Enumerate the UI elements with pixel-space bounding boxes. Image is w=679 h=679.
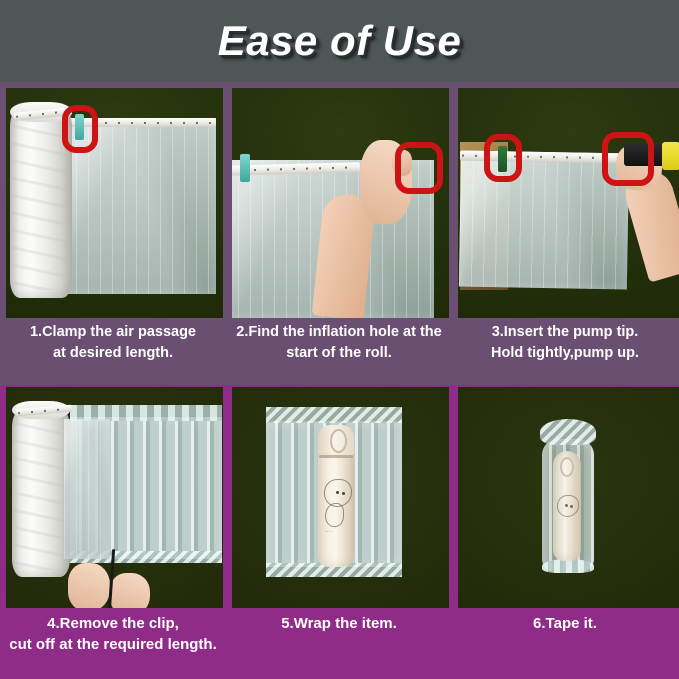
air-passage-clip bbox=[240, 154, 250, 182]
page-title: Ease of Use bbox=[0, 17, 679, 65]
step-1-illustration bbox=[6, 88, 223, 318]
step-1-caption: 1.Clamp the air passage at desired lengt… bbox=[0, 322, 226, 364]
step-6-photo bbox=[458, 387, 679, 608]
film-roll bbox=[12, 409, 70, 577]
air-column-crimp-top bbox=[266, 407, 402, 423]
highlight-box-inflation-hole bbox=[395, 142, 443, 194]
infographic-page: Ease of Use bbox=[0, 0, 679, 679]
steps-row-1: 1.Clamp the air passage at desired lengt… bbox=[0, 82, 679, 385]
highlight-box-pump-tip bbox=[602, 132, 654, 186]
step-1-photo bbox=[6, 88, 223, 318]
step-2-photo bbox=[232, 88, 449, 318]
bottle-label-text: ‧‧‧‧ bbox=[325, 529, 333, 535]
highlight-box-clip bbox=[484, 134, 522, 182]
wrap-crimp-top bbox=[540, 419, 596, 445]
wrap-crimp-bottom bbox=[542, 559, 594, 573]
step-4-caption: 4.Remove the clip, cut off at the requir… bbox=[0, 613, 226, 655]
row-1-captions: 1.Clamp the air passage at desired lengt… bbox=[0, 322, 679, 364]
steps-row-2: ‧‧‧‧ 4.Remove the clip, c bbox=[0, 385, 679, 679]
step-3-caption: 3.Insert the pump tip. Hold tightly,pump… bbox=[452, 322, 678, 364]
row-2-panels: ‧‧‧‧ bbox=[0, 387, 679, 608]
hand-right-fingers bbox=[110, 573, 150, 608]
row-2-captions: 4.Remove the clip, cut off at the requir… bbox=[0, 613, 679, 655]
bottle-ring bbox=[319, 455, 353, 458]
step-6-caption: 6.Tape it. bbox=[452, 613, 678, 655]
step-2-illustration bbox=[232, 88, 449, 318]
step-3-photo bbox=[458, 88, 679, 318]
step-3-illustration bbox=[458, 88, 679, 318]
bottle-eye-left bbox=[565, 504, 568, 507]
step-4-photo bbox=[6, 387, 223, 608]
pump-tip bbox=[662, 142, 679, 170]
bottle-loop bbox=[330, 429, 347, 453]
step-5-caption: 5.Wrap the item. bbox=[226, 613, 452, 655]
step-5-illustration: ‧‧‧‧ bbox=[232, 387, 449, 608]
highlight-box-clip bbox=[62, 105, 98, 153]
step-5-photo: ‧‧‧‧ bbox=[232, 387, 449, 608]
bottle-eye-right bbox=[570, 505, 573, 508]
uninflated-section bbox=[64, 419, 110, 559]
step-2-caption: 2.Find the inflation hole at the start o… bbox=[226, 322, 452, 364]
step-6-illustration bbox=[458, 387, 679, 608]
bottle-graphic-lower bbox=[325, 503, 344, 527]
header-banner: Ease of Use bbox=[0, 0, 679, 82]
bottle-eye-left bbox=[336, 491, 339, 494]
bottle-eye-right bbox=[342, 492, 345, 495]
bottle-loop bbox=[560, 457, 574, 477]
step-4-illustration bbox=[6, 387, 223, 608]
hand-left-fingers bbox=[68, 563, 110, 608]
row-1-panels bbox=[0, 88, 679, 318]
